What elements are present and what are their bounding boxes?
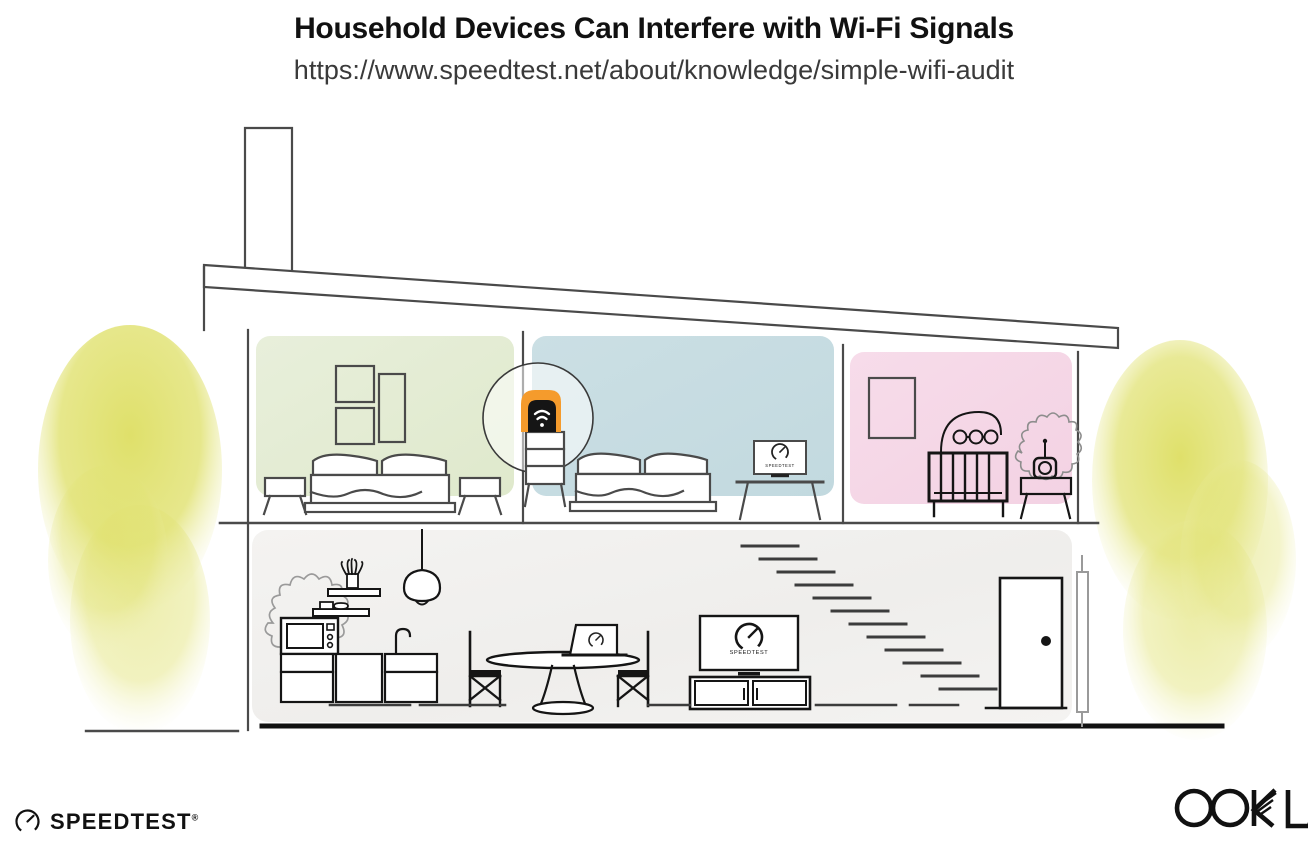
- foliage-left: [38, 325, 222, 735]
- ookla-brand: ™: [1172, 784, 1308, 835]
- tv-screen-label: SPEEDTEST: [730, 650, 769, 656]
- ookla-logo: ™: [1172, 784, 1308, 830]
- microwave[interactable]: [281, 618, 338, 654]
- chimney: [245, 128, 292, 285]
- brand-text: SPEEDTEST: [50, 809, 192, 834]
- infographic: Household Devices Can Interfere with Wi-…: [0, 0, 1308, 861]
- house-illustration: SPEEDTEST: [0, 0, 1308, 861]
- speedtest-wordmark: SPEEDTEST®: [50, 809, 199, 835]
- kitchen-cabinets: [281, 654, 437, 702]
- brand-trademark: ®: [192, 812, 200, 822]
- nightstand-left-green: [264, 478, 306, 514]
- television[interactable]: [700, 616, 798, 675]
- wifi-router[interactable]: [521, 390, 561, 432]
- sidelight-window: [1077, 556, 1088, 726]
- speedometer-icon: [14, 808, 41, 835]
- monitor-screen-label: SPEEDTEST: [765, 463, 794, 468]
- media-console: [690, 677, 810, 709]
- room-nursery-pink: [850, 352, 1072, 504]
- monitor-blue-room[interactable]: [754, 441, 806, 477]
- speedtest-brand: SPEEDTEST®: [14, 808, 199, 835]
- roof: [204, 265, 1118, 348]
- nightstand-right-green: [459, 478, 501, 514]
- foliage-right: [1092, 340, 1296, 740]
